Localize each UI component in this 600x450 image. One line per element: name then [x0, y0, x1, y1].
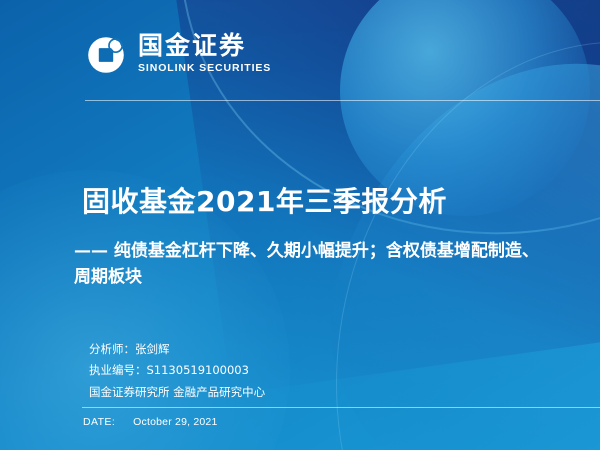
date-value: October 29, 2021 — [133, 416, 217, 428]
divider-top — [85, 100, 600, 101]
brand-logo: 国金证券 SINOLINK SECURITIES — [86, 33, 271, 76]
analyst-name: 分析师：张剑辉 — [89, 339, 265, 360]
divider-bottom — [82, 407, 600, 408]
brand-logo-text: 国金证券 SINOLINK SECURITIES — [138, 33, 271, 76]
analyst-info: 分析师：张剑辉 执业编号：S1130519100003 国金证券研究所 金融产品… — [89, 339, 265, 403]
brand-name-cn: 国金证券 — [138, 33, 271, 59]
brand-name-en: SINOLINK SECURITIES — [138, 61, 271, 77]
analyst-license: 执业编号：S1130519100003 — [89, 360, 265, 381]
analyst-institute: 国金证券研究所 金融产品研究中心 — [89, 382, 265, 403]
page-subtitle: —— 纯债基金杠杆下降、久期小幅提升；含权债基增配制造、周期板块 — [74, 238, 542, 291]
date-label: DATE: — [83, 416, 115, 428]
background-arc-right — [286, 0, 600, 450]
page-title: 固收基金2021年三季报分析 — [82, 184, 552, 219]
background-swoosh-tail — [290, 15, 600, 450]
report-cover-slide: 国金证券 SINOLINK SECURITIES 固收基金2021年三季报分析 … — [0, 0, 600, 450]
publish-date: DATE: October 29, 2021 — [83, 416, 218, 428]
sinolink-ring-logo-icon — [86, 35, 126, 75]
